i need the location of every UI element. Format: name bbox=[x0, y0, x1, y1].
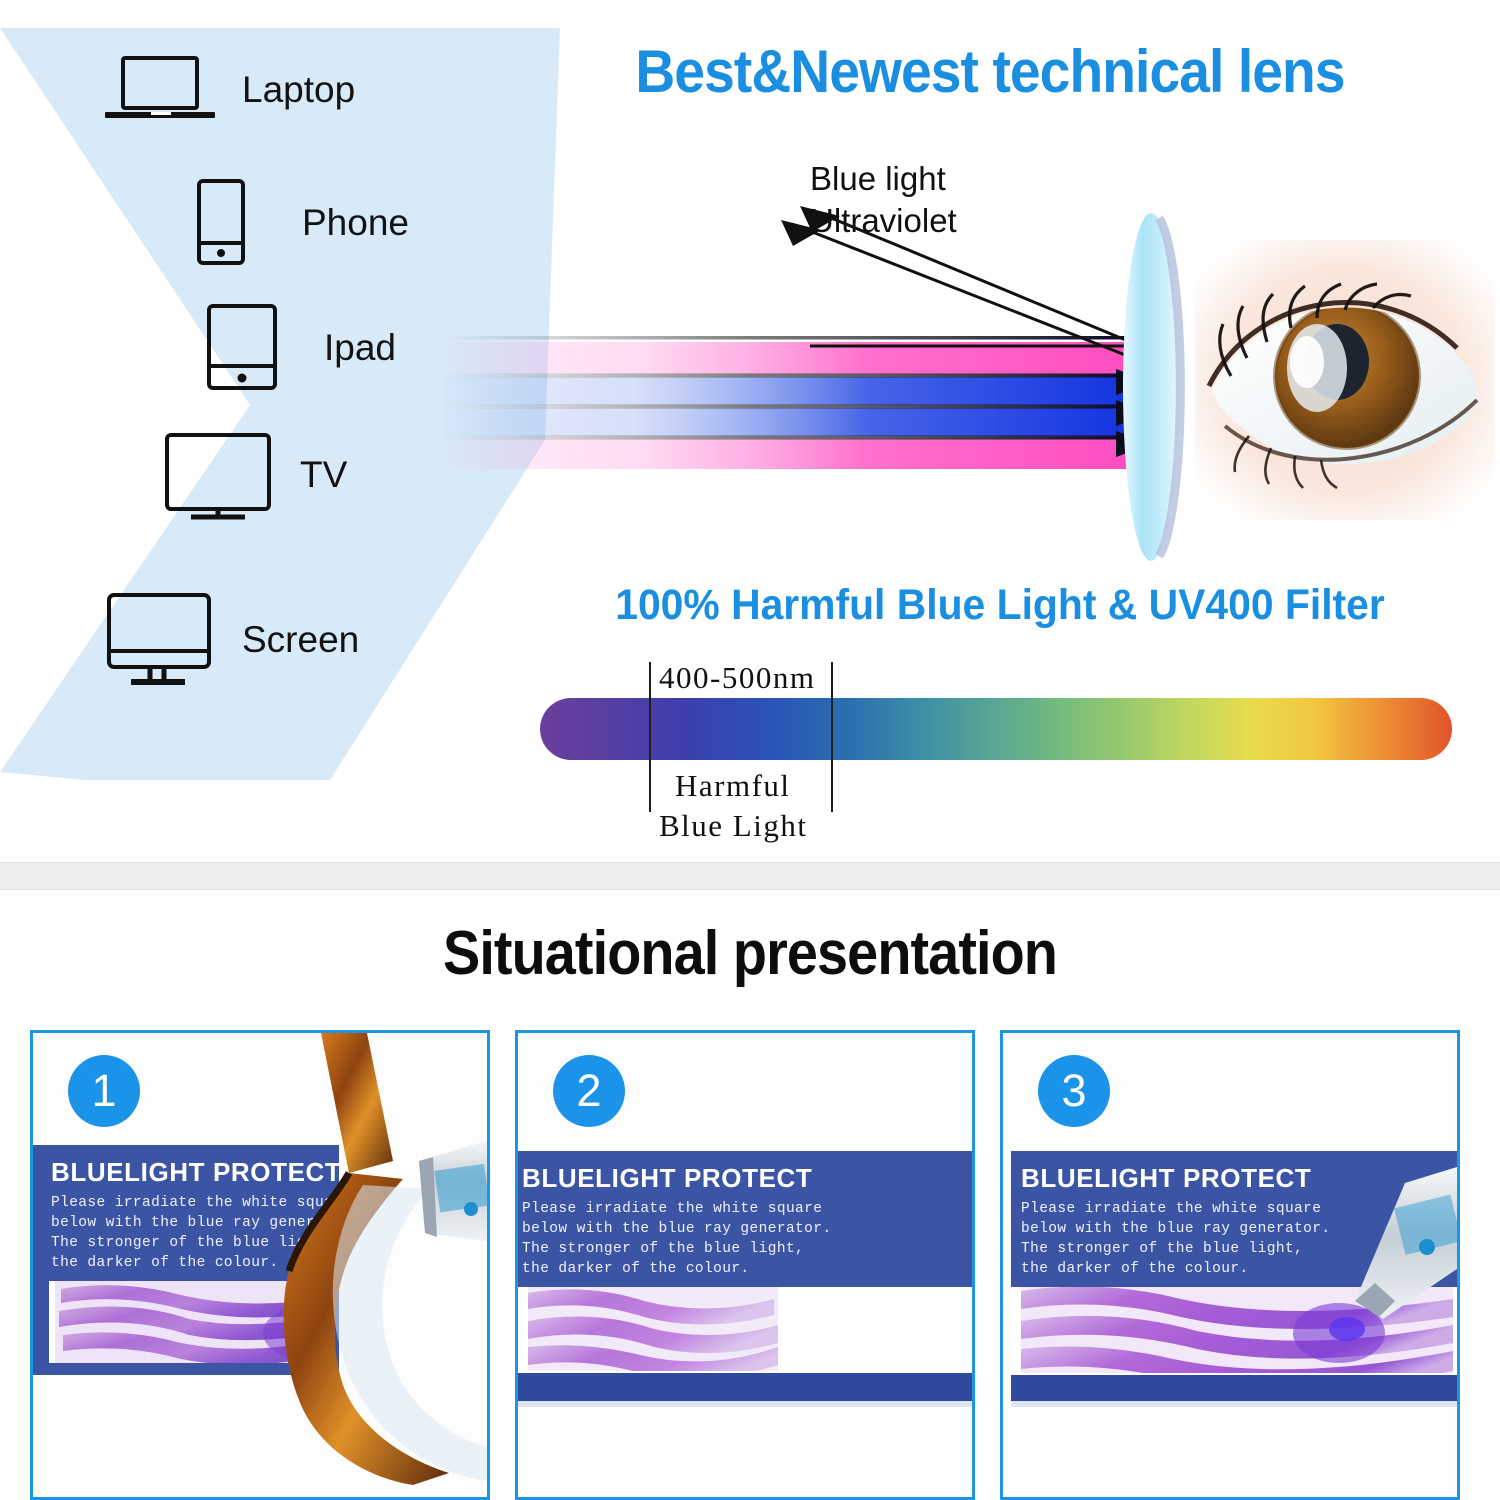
panel-badge: 2 bbox=[553, 1055, 625, 1127]
infographic-page: Laptop Phone bbox=[0, 0, 1500, 1500]
laser-pen bbox=[419, 1141, 487, 1241]
situational-panels: BLUELIGHT PROTECT Please irradiate the w… bbox=[0, 1030, 1500, 1500]
device-label: Phone bbox=[302, 202, 409, 244]
device-label: Laptop bbox=[242, 69, 355, 111]
device-item-screen: Screen bbox=[100, 595, 359, 685]
spectrum-harmful-label-2: Blue Light bbox=[659, 808, 807, 844]
phone-icon bbox=[160, 178, 280, 268]
spectrum-bar bbox=[540, 698, 1452, 760]
spectrum-marker-500 bbox=[831, 662, 833, 812]
top-section: Laptop Phone bbox=[0, 0, 1500, 862]
panel-badge: 1 bbox=[68, 1055, 140, 1127]
device-item-tv: TV bbox=[158, 430, 347, 520]
spectrum-harmful-label-1: Harmful bbox=[675, 768, 791, 804]
device-item-laptop: Laptop bbox=[100, 45, 355, 135]
situational-panel-1[interactable]: BLUELIGHT PROTECT Please irradiate the w… bbox=[30, 1030, 490, 1500]
device-item-ipad: Ipad bbox=[182, 303, 396, 393]
spectrum-range-label: 400-500nm bbox=[659, 660, 815, 696]
page-title: Best&Newest technical lens bbox=[539, 36, 1441, 108]
device-item-phone: Phone bbox=[160, 178, 409, 268]
lens-shape bbox=[1115, 210, 1195, 565]
tv-icon bbox=[158, 430, 278, 520]
situational-section: Situational presentation BLUELIGHT PROTE… bbox=[0, 890, 1500, 1500]
spectrum-chart: 400-500nm Harmful Blue Light bbox=[535, 650, 1465, 850]
filter-subtitle: 100% Harmful Blue Light & UV400 Filter bbox=[544, 580, 1456, 630]
device-label: Screen bbox=[242, 619, 359, 661]
eye-photo bbox=[1195, 240, 1495, 520]
tortoise-glasses bbox=[284, 1033, 487, 1485]
ray-band-blue-2 bbox=[440, 408, 1130, 436]
ultraviolet-label: Ultraviolet bbox=[810, 202, 957, 239]
device-label: Ipad bbox=[324, 327, 396, 369]
blue-light-label: Blue light bbox=[810, 160, 946, 197]
device-label: TV bbox=[300, 454, 347, 496]
ray-band-pink-bottom bbox=[440, 439, 1130, 469]
tablet-icon bbox=[182, 303, 302, 393]
situational-panel-3[interactable]: BLUELIGHT PROTECT Please irradiate the w… bbox=[1000, 1030, 1460, 1500]
situational-panel-2[interactable]: BLUELIGHT PROTECT Please irradiate the w… bbox=[515, 1030, 975, 1500]
monitor-icon bbox=[100, 595, 220, 685]
panel-badge: 3 bbox=[1038, 1055, 1110, 1127]
lens-ray-diagram: Blue light Ultraviolet Blue light Ultrav… bbox=[440, 150, 1200, 580]
spectrum-marker-400 bbox=[649, 662, 651, 812]
section-title: Situational presentation bbox=[75, 918, 1425, 990]
section-divider bbox=[0, 862, 1500, 890]
ray-band-blue-1 bbox=[440, 377, 1130, 405]
laptop-icon bbox=[100, 45, 220, 135]
